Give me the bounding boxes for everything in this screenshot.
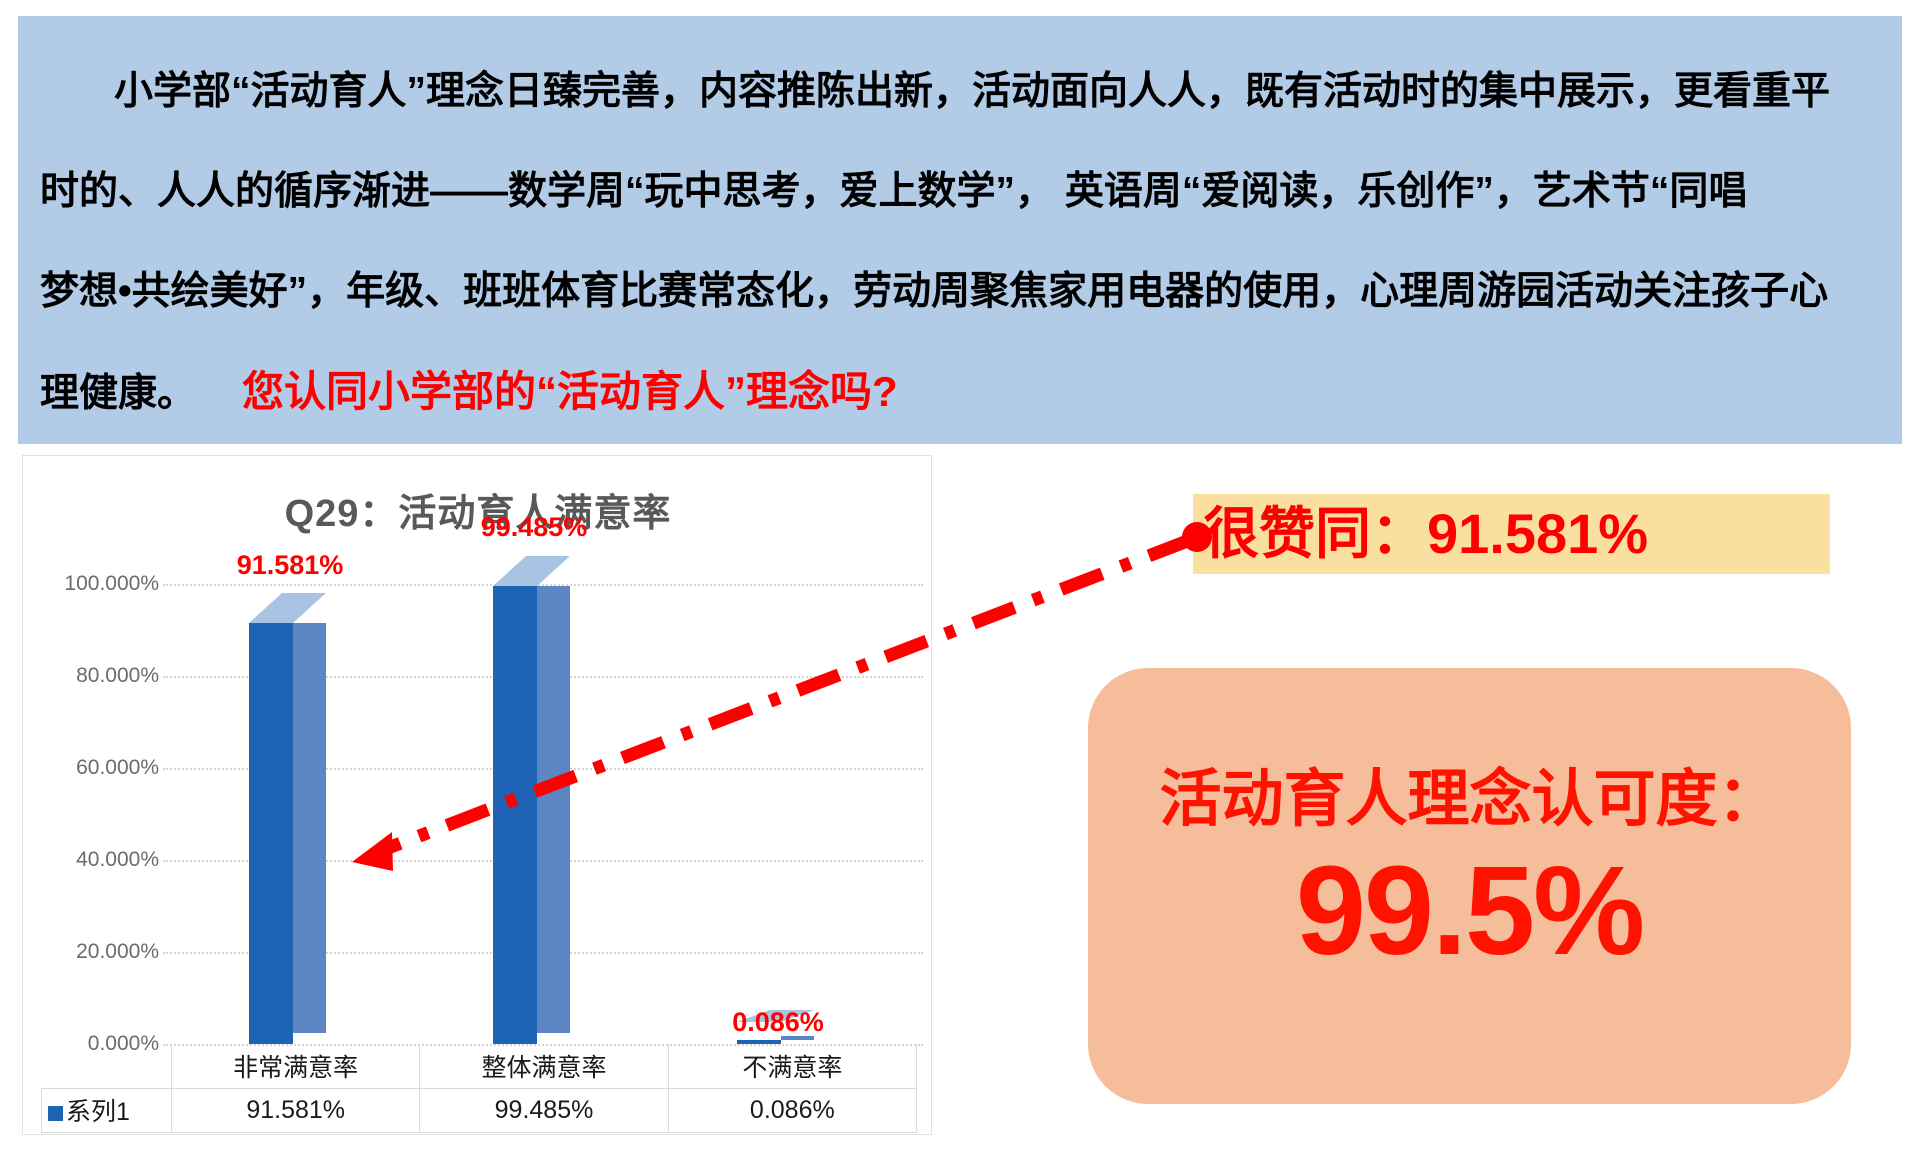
banner-question: 您认同小学部的“活动育人”理念吗? <box>242 368 898 415</box>
highlight-callout-text: 很赞同：91.581% <box>1203 492 1843 576</box>
table-row-series1: 系列1 91.581% 99.485% 0.086% <box>42 1088 917 1132</box>
table-value-cell: 99.485% <box>420 1088 668 1132</box>
table-header-cell: 不满意率 <box>668 1044 916 1088</box>
table-header-cell: 整体满意率 <box>420 1044 668 1088</box>
banner-line-4: 理健康。您认同小学部的“活动育人”理念吗? <box>40 342 1880 444</box>
summary-callout-value: 99.5% <box>1088 838 1851 983</box>
banner-line-3: 梦想•共绘美好”，年级、班班体育比赛常态化，劳动周聚焦家用电器的使用，心理周游园… <box>40 242 1880 342</box>
slide-root: 小学部“活动育人”理念日臻完善，内容推陈出新，活动面向人人，既有活动时的集中展示… <box>0 0 1920 1156</box>
plot-area: 91.581% 99.485% 0.086% <box>163 584 923 1044</box>
table-legend-cell: 系列1 <box>42 1088 172 1132</box>
bar-value-label-2: 99.485% <box>459 512 609 543</box>
chart-card: Q29：活动育人满意率 100.000% 80.000% 60.000% 40.… <box>22 455 932 1135</box>
bar-top-face <box>493 556 570 586</box>
bar-value-label-1: 91.581% <box>215 550 365 581</box>
y-axis-labels: 100.000% 80.000% 60.000% 40.000% 20.000%… <box>23 584 159 1044</box>
bar-value-label-3: 0.086% <box>703 1007 853 1038</box>
legend-label: 系列1 <box>66 1098 130 1126</box>
summary-callout-label: 活动育人理念认可度： <box>1088 748 1851 838</box>
bar-front-face <box>493 586 537 1044</box>
y-tick-label: 80.000% <box>27 664 159 688</box>
table-value-cell: 91.581% <box>172 1088 420 1132</box>
banner-line-4-text: 理健康。 <box>40 372 196 415</box>
banner-line-2: 时的、人人的循序渐进——数学周“玩中思考，爱上数学”， 英语周“爱阅读，乐创作”… <box>40 142 1880 242</box>
y-tick-label: 20.000% <box>27 940 159 964</box>
bar-side-face <box>293 623 326 1033</box>
bar-top-face <box>249 593 326 623</box>
chart-data-table: 非常满意率 整体满意率 不满意率 系列1 91.581% 99.485% 0.0… <box>41 1044 917 1133</box>
y-tick-label: 100.000% <box>27 572 159 596</box>
bar-front-face <box>249 623 293 1044</box>
legend-swatch-icon <box>48 1106 63 1121</box>
table-header-cell: 非常满意率 <box>172 1044 420 1088</box>
y-tick-label: 60.000% <box>27 756 159 780</box>
bar-side-face <box>537 586 570 1033</box>
table-row-categories: 非常满意率 整体满意率 不满意率 <box>42 1044 917 1088</box>
table-value-cell: 0.086% <box>668 1088 916 1132</box>
y-tick-label: 40.000% <box>27 848 159 872</box>
table-corner-cell <box>42 1044 172 1088</box>
banner-line-1: 小学部“活动育人”理念日臻完善，内容推陈出新，活动面向人人，既有活动时的集中展示… <box>40 42 1880 142</box>
intro-banner: 小学部“活动育人”理念日臻完善，内容推陈出新，活动面向人人，既有活动时的集中展示… <box>18 16 1902 444</box>
